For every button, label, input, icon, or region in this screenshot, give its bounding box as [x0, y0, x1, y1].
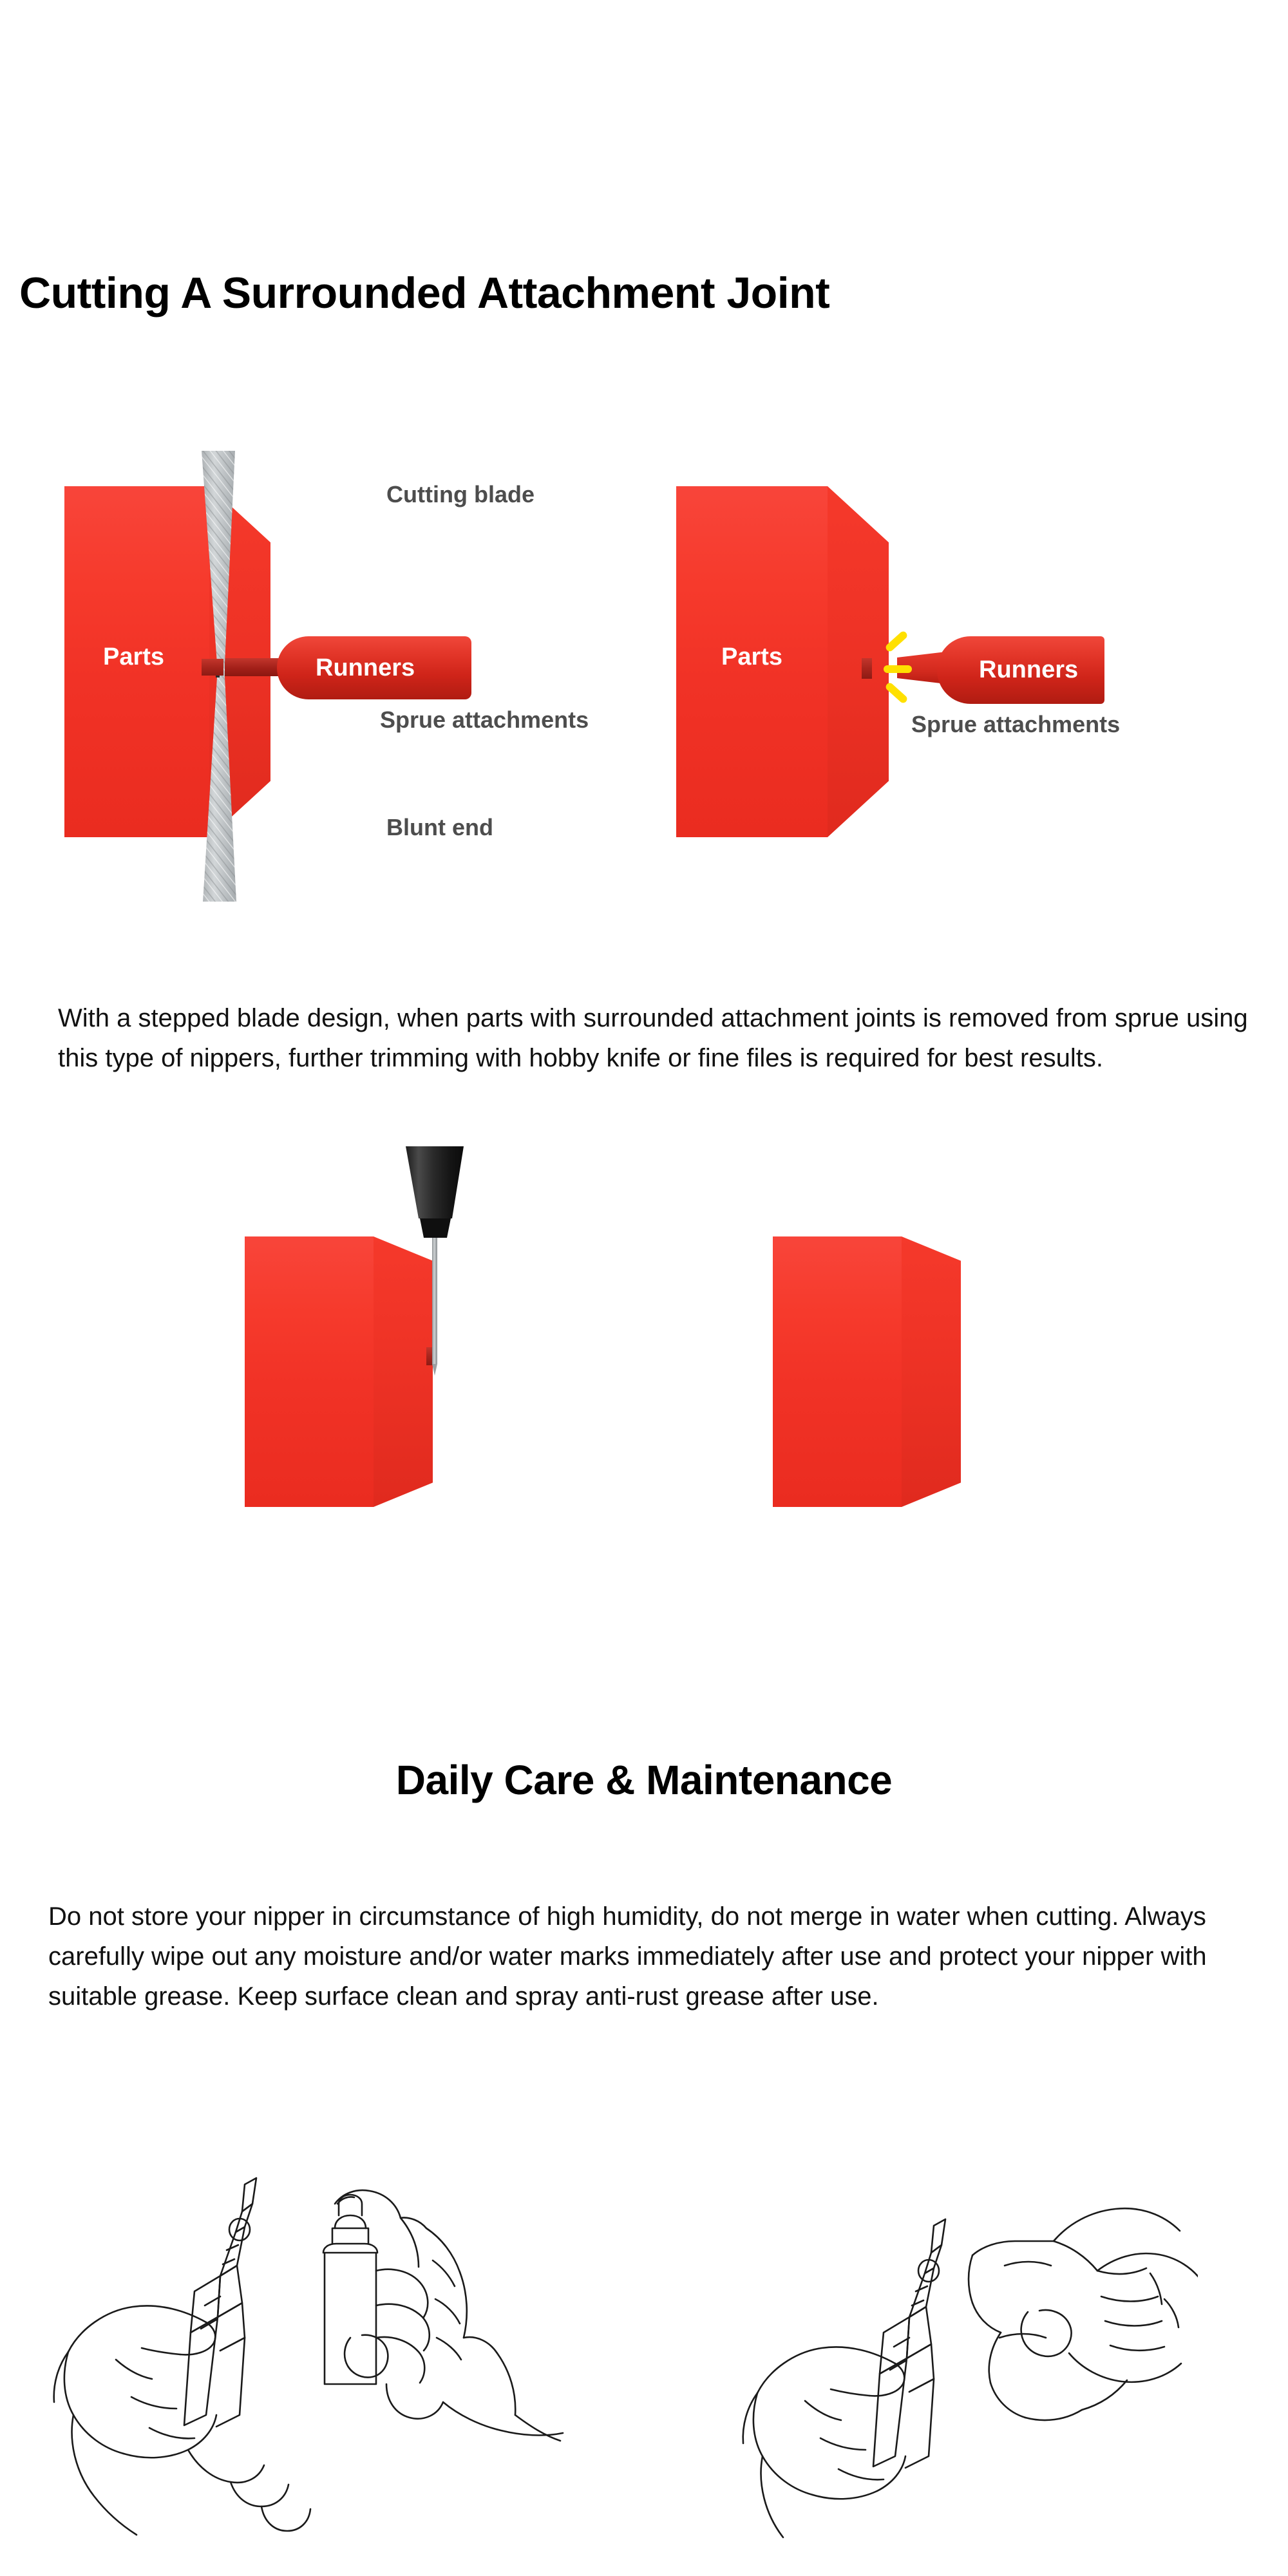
callout-sprue-attachments-left: Sprue attachments	[380, 707, 589, 733]
maintenance-illustrations	[0, 2145, 1288, 2557]
part-block-finished	[773, 1236, 902, 1507]
spark-dash-middle-icon	[884, 665, 912, 673]
callout-blunt-end: Blunt end	[386, 815, 493, 840]
infographic-page: Cutting A Surrounded Attachment Joint	[0, 0, 1288, 2576]
nipper-in-hand-icon	[873, 2219, 945, 2468]
part-front-face	[773, 1236, 902, 1507]
illustration-nipper-and-cloth	[670, 2145, 1198, 2557]
page-title-care: Daily Care & Maintenance	[0, 1755, 1288, 1805]
part-label-right: Parts	[721, 644, 782, 670]
spray-bottle-icon	[323, 2195, 377, 2384]
diagram-cutting-sequence: Parts Runners Cutting blade Sprue attach…	[0, 451, 1288, 902]
nipper-in-hand-icon	[184, 2178, 256, 2427]
right-hand-icon	[1021, 2208, 1198, 2410]
diagram-panel-with-blade: Parts Runners Cutting blade Sprue attach…	[39, 451, 657, 902]
runner-label-left: Runners	[316, 655, 415, 681]
paragraph-cutting: With a stepped blade design, when parts …	[58, 998, 1269, 1078]
sprue-attachment-stub-left	[202, 659, 223, 676]
diagram-panel-separated: Parts Runners Sprue attachments	[657, 451, 1288, 902]
diagram-panel-knife-trim	[245, 1146, 554, 1597]
part-bevel-face	[828, 486, 889, 837]
illustration-nipper-and-spray	[52, 2145, 580, 2557]
part-bevel-face	[902, 1236, 961, 1507]
cloth-icon	[969, 2241, 1097, 2420]
hobby-knife-icon	[385, 1146, 488, 1378]
diagram-panel-finished-part	[773, 1146, 1056, 1597]
part-block-trim	[245, 1236, 374, 1507]
left-hand-icon	[54, 2306, 310, 2535]
diagram-trimming-sequence	[0, 1146, 1288, 1610]
page-title-cutting: Cutting A Surrounded Attachment Joint	[19, 267, 829, 319]
callout-sprue-attachments-right: Sprue attachments	[911, 712, 1120, 737]
runner-label-right: Runners	[979, 657, 1078, 683]
callout-cutting-blade: Cutting blade	[386, 482, 535, 507]
left-hand-icon	[743, 2347, 905, 2537]
paragraph-care: Do not store your nipper in circumstance…	[48, 1897, 1272, 2016]
sprue-attachment-residual-nub	[862, 658, 872, 679]
part-front-face	[245, 1236, 374, 1507]
cutting-blade-icon	[196, 451, 248, 902]
part-label-left: Parts	[103, 644, 164, 670]
